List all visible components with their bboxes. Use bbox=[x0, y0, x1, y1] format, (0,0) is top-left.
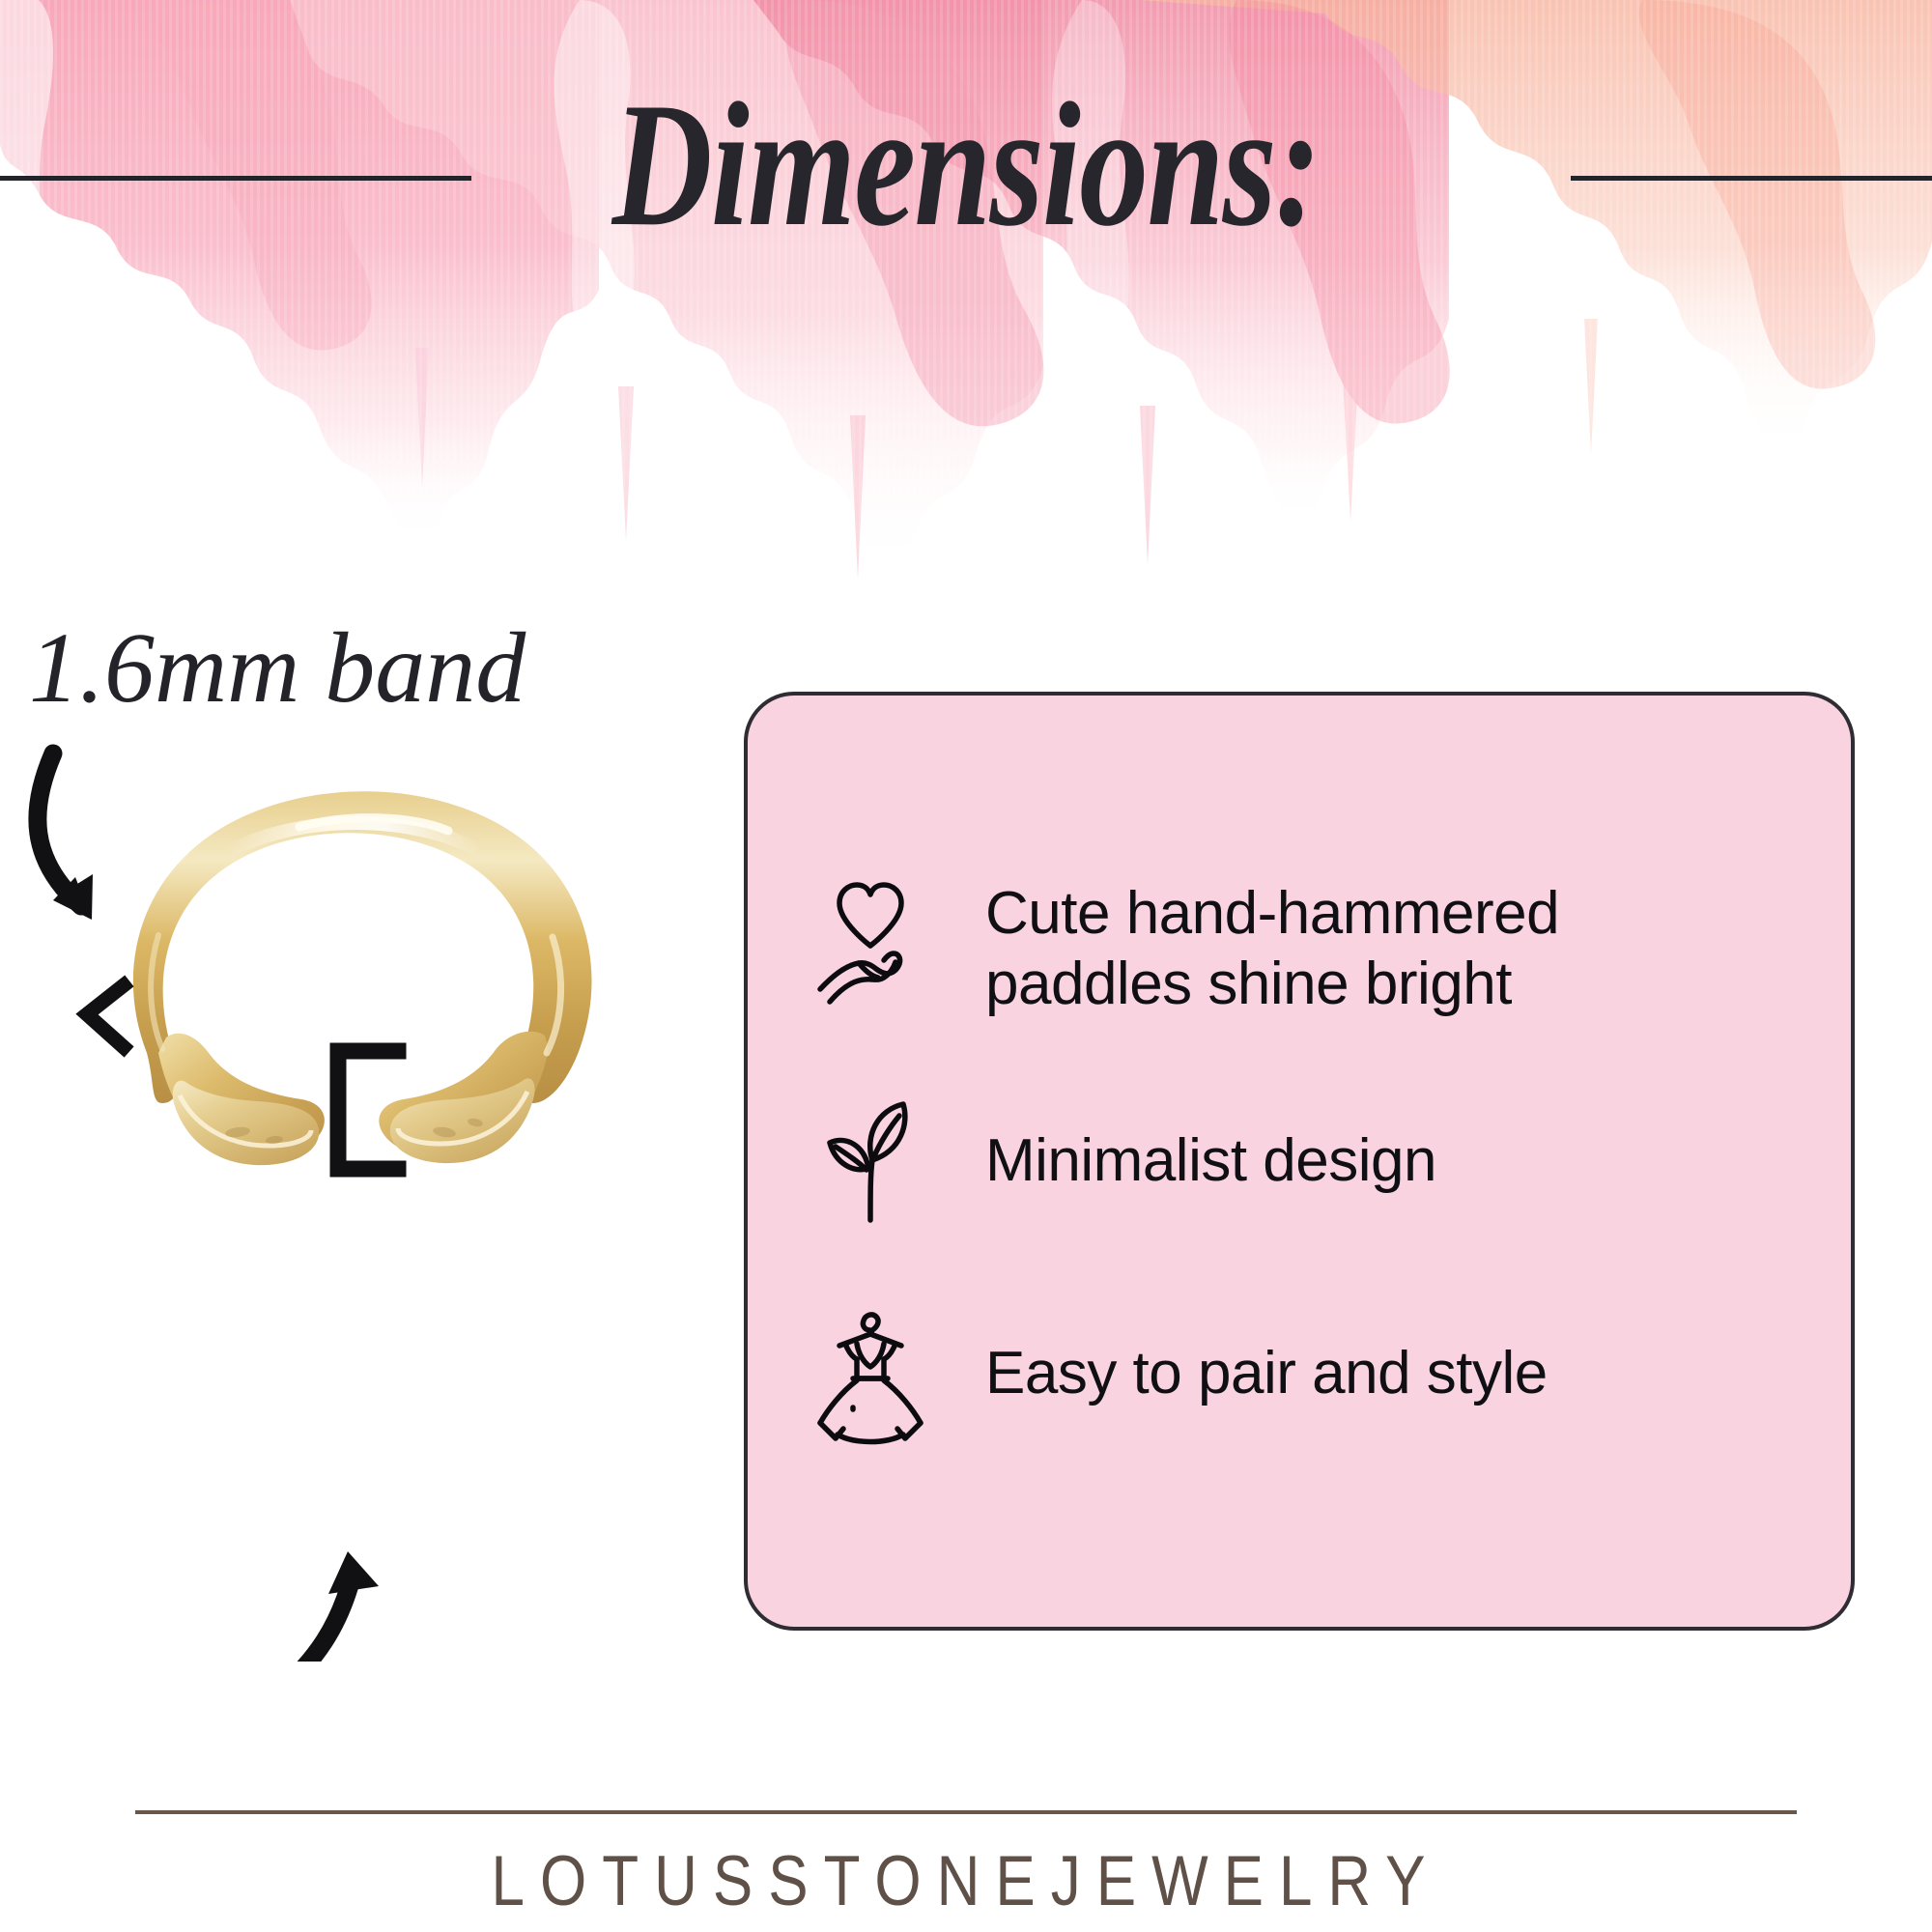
ring-product-image bbox=[58, 763, 638, 1169]
feature-line-2: paddles shine bright bbox=[985, 949, 1559, 1019]
header: Dimensions: bbox=[0, 93, 1932, 276]
feature-line-1: Cute hand-hammered bbox=[985, 880, 1559, 947]
list-item: Easy to pair and style bbox=[808, 1301, 1791, 1446]
infographic-canvas: Dimensions: 1.6mm band 3mm ends bbox=[0, 0, 1932, 1932]
footer: LOTUSSTONEJEWELRY bbox=[0, 1799, 1932, 1932]
list-item: Cute hand-hammered paddles shine bright bbox=[808, 876, 1791, 1021]
arrow-up-icon bbox=[269, 1551, 379, 1662]
feature-label: Minimalist design bbox=[985, 1125, 1436, 1196]
feature-line-1: Easy to pair and style bbox=[985, 1340, 1548, 1406]
sprout-leaf-icon bbox=[808, 1089, 933, 1234]
list-item: Minimalist design bbox=[808, 1089, 1791, 1234]
product-dimension-diagram: 1.6mm band 3mm ends bbox=[0, 541, 850, 1662]
heart-in-hand-icon bbox=[808, 876, 933, 1021]
page-title: Dimensions: bbox=[213, 75, 1719, 253]
feature-label: Cute hand-hammered paddles shine bright bbox=[985, 878, 1559, 1019]
feature-label: Easy to pair and style bbox=[985, 1338, 1548, 1408]
brand-wordmark: LOTUSSTONEJEWELRY bbox=[0, 1841, 1932, 1922]
footer-divider bbox=[135, 1810, 1797, 1814]
dress-hanger-icon bbox=[808, 1301, 933, 1446]
annotation-band-width: 1.6mm band bbox=[29, 618, 526, 719]
features-card: Cute hand-hammered paddles shine bright bbox=[744, 692, 1855, 1631]
feature-line-1: Minimalist design bbox=[985, 1127, 1436, 1194]
features-list: Cute hand-hammered paddles shine bright bbox=[748, 696, 1851, 1627]
